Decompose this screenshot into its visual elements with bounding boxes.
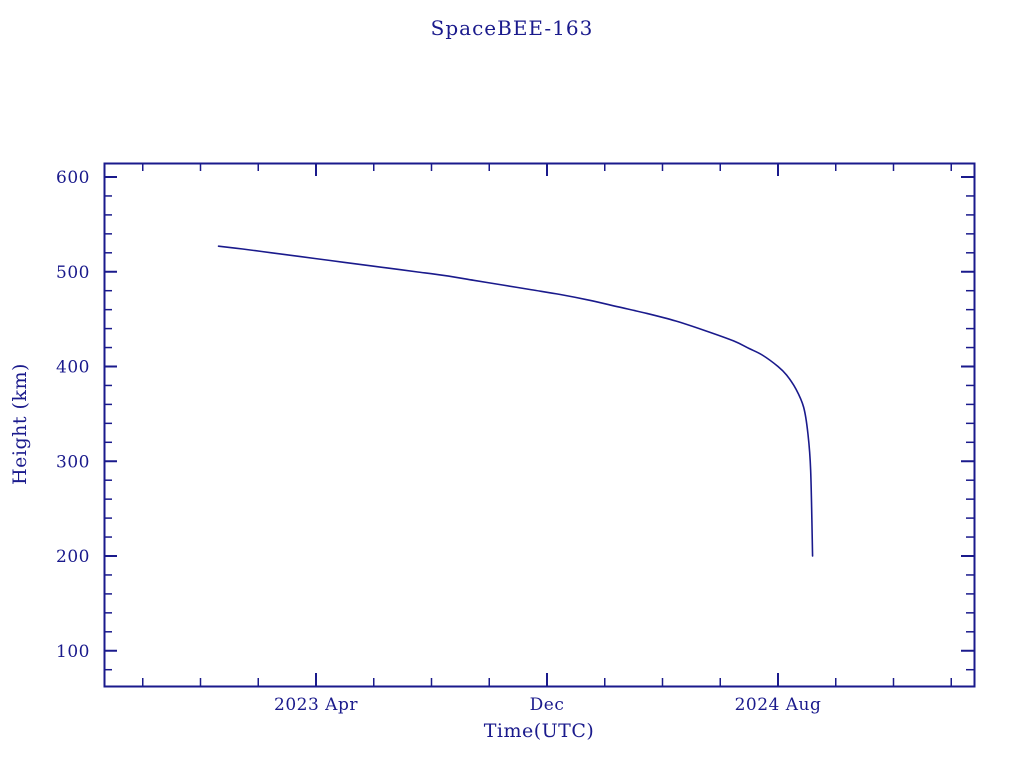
y-tick-label: 400 xyxy=(56,358,90,378)
y-tick-label: 500 xyxy=(56,263,90,283)
x-axis-title: Time(UTC) xyxy=(484,720,595,742)
y-tick-label: 600 xyxy=(56,168,90,188)
y-tick-label: 200 xyxy=(56,547,90,567)
x-tick-label: 2024 Aug xyxy=(735,695,822,715)
x-axis-tick-labels: 2023 AprDec2024 Aug xyxy=(274,695,821,715)
plot-axes xyxy=(105,164,975,687)
y-tick-label: 300 xyxy=(56,452,90,472)
x-tick-label: 2023 Apr xyxy=(274,695,358,715)
plot-frame xyxy=(105,164,975,687)
line-chart: 600500400300200100 2023 AprDec2024 Aug T… xyxy=(0,0,1024,768)
y-axis-ticks xyxy=(104,177,974,670)
y-axis-tick-labels: 600500400300200100 xyxy=(56,168,90,662)
height-decay-series xyxy=(219,246,813,556)
y-tick-label: 100 xyxy=(56,642,90,662)
x-axis-ticks xyxy=(143,163,952,686)
x-tick-label: Dec xyxy=(530,695,565,715)
y-axis-title: Height (km) xyxy=(9,363,31,485)
chart-page: SpaceBEE-163 600500400300200100 2023 Apr… xyxy=(0,0,1024,768)
